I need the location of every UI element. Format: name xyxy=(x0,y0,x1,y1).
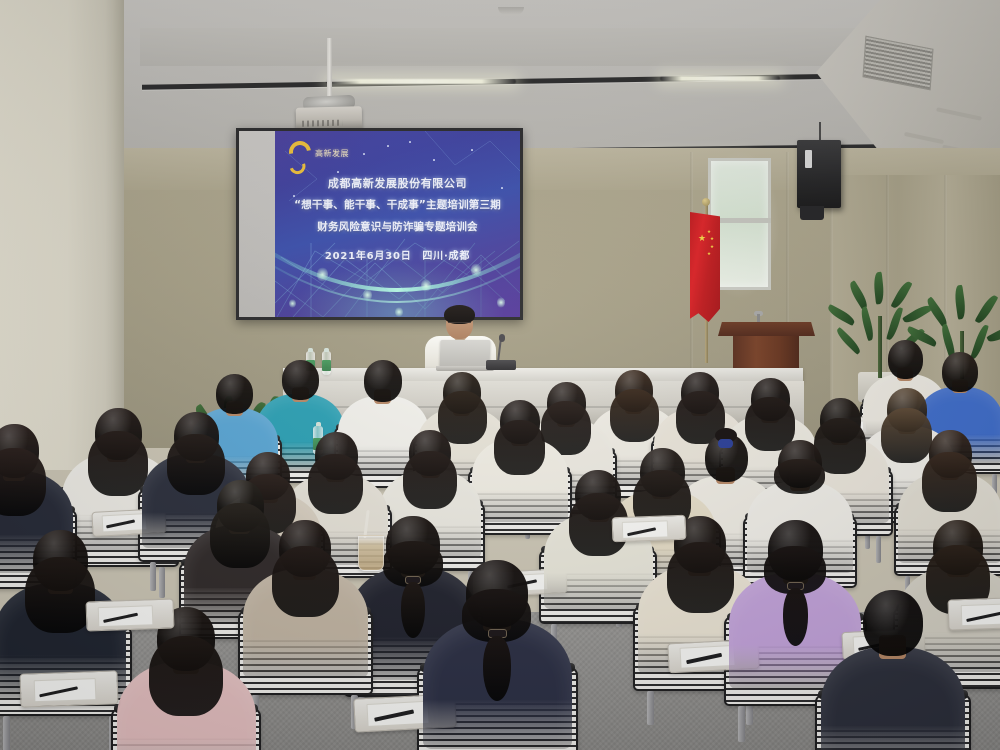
iced-drink-cup xyxy=(358,535,384,571)
hair-long xyxy=(403,451,457,509)
audience-member xyxy=(423,560,572,750)
hair-long xyxy=(149,636,223,716)
hair-bob xyxy=(774,459,825,494)
writing-tablet[interactable] xyxy=(19,670,118,707)
hair-long xyxy=(922,452,977,512)
chair-leg xyxy=(647,691,654,725)
chair-leg xyxy=(876,536,881,563)
ponytail xyxy=(483,636,511,701)
chair-leg xyxy=(159,567,165,598)
ponytail xyxy=(401,582,425,638)
chair-leg xyxy=(150,562,156,591)
ponytail xyxy=(783,588,808,646)
hair-long xyxy=(667,542,734,613)
audience-member xyxy=(243,520,368,686)
seminar-room-photo: 高新发展 成都高新发展股份有限公司 “想干事、能干事、干成事”主题培训第三期 财… xyxy=(0,0,1000,750)
writing-tablet[interactable] xyxy=(86,598,175,631)
audience-member xyxy=(821,590,965,750)
audience-member-head xyxy=(863,590,923,656)
hair-long xyxy=(272,546,339,617)
audience-member-head xyxy=(942,352,978,392)
chair-leg xyxy=(738,706,745,742)
audience-member-head xyxy=(216,374,253,414)
chair-leg xyxy=(3,716,10,750)
bottle-cap xyxy=(316,422,321,426)
audience-member-head xyxy=(364,360,402,402)
hair-long xyxy=(0,448,46,516)
hair-long xyxy=(25,557,95,633)
audience-member-head xyxy=(282,360,319,400)
hair-accessory xyxy=(718,439,733,448)
hair-long xyxy=(88,431,148,496)
writing-tablet[interactable] xyxy=(947,596,1000,630)
audience-member-torso xyxy=(821,647,965,750)
audience xyxy=(0,0,1000,750)
writing-tablet[interactable] xyxy=(612,515,687,543)
hair-long xyxy=(610,389,659,442)
hair-long xyxy=(494,420,545,475)
